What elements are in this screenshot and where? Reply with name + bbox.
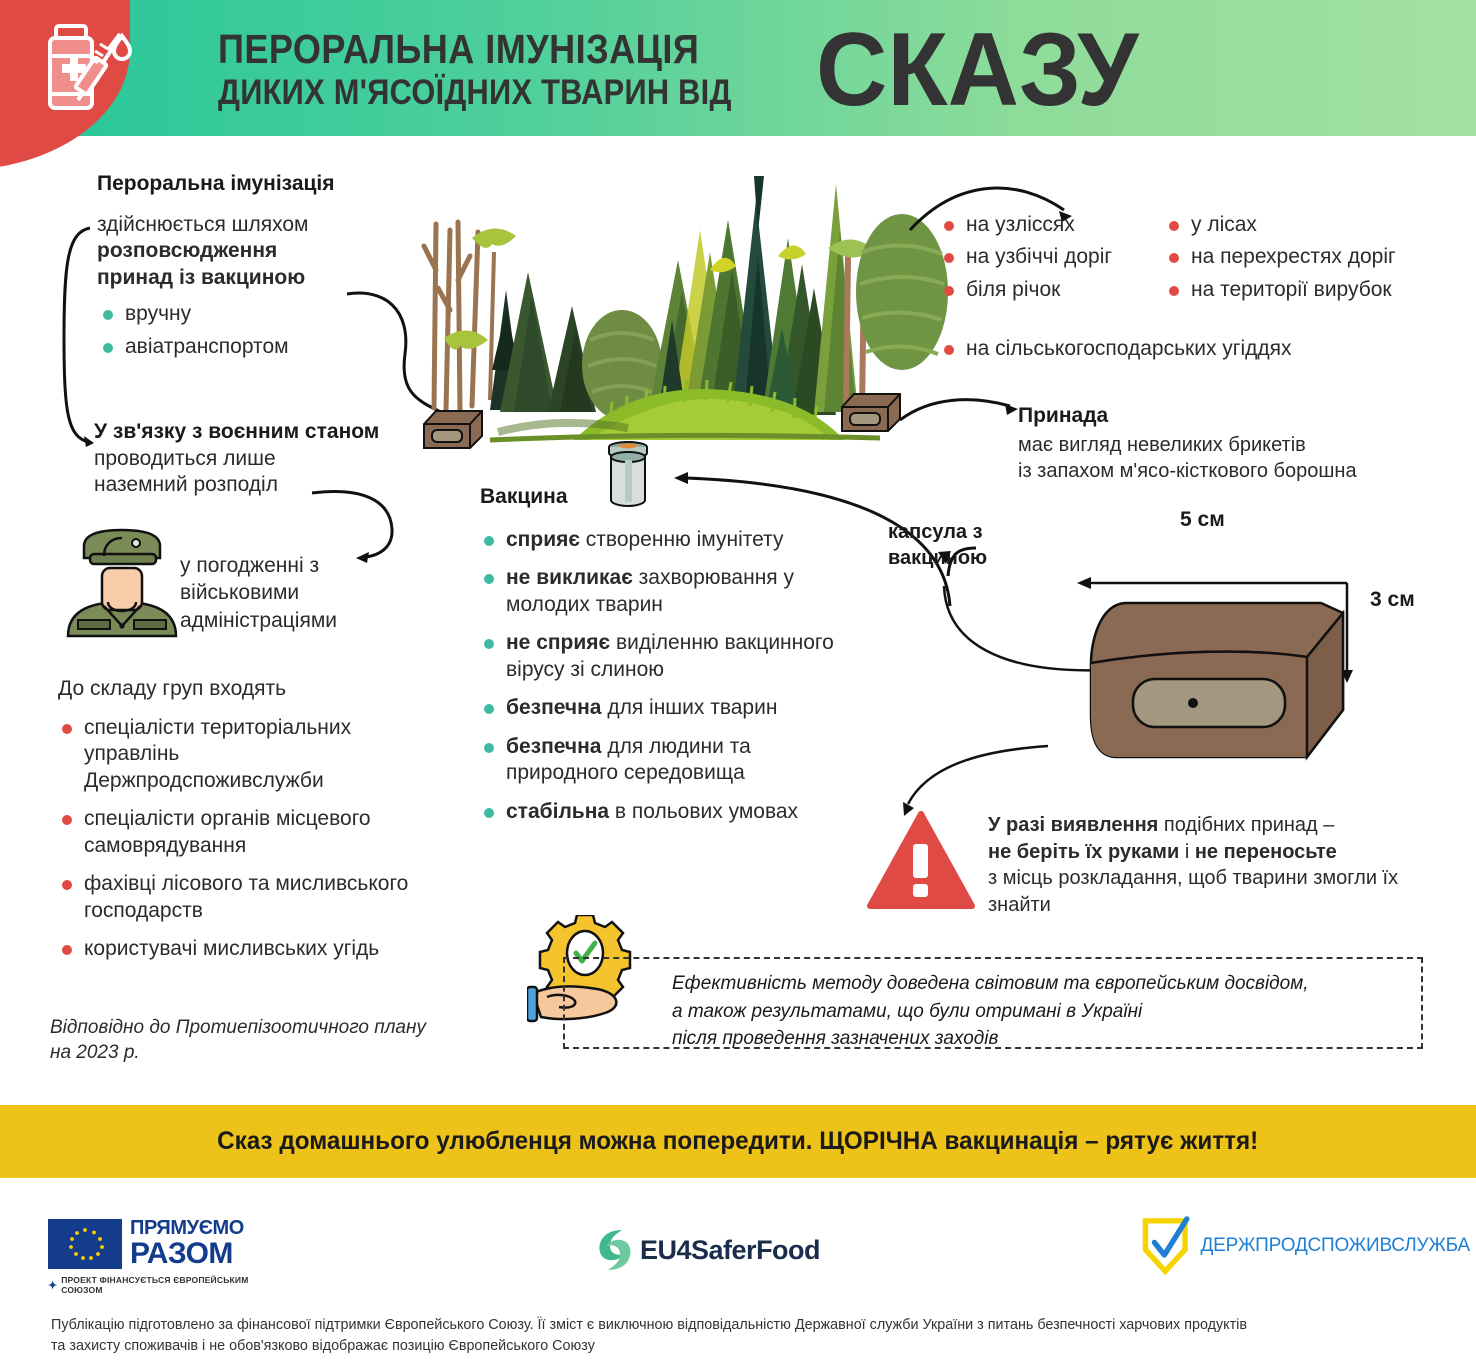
places-column-a: на узліссях на узбіччі доріг біля річок: [940, 212, 1160, 309]
list-item: на сільськогосподарських угіддях: [940, 336, 1460, 362]
warning-triangle-icon: [866, 810, 976, 910]
header-title-group: ПЕРОРАЛЬНА ІМУНІЗАЦІЯ ДИКИХ М'ЯСОЇДНИХ Т…: [218, 10, 1458, 130]
bottom-banner: Сказ домашнього улюбленця можна попереди…: [0, 1105, 1476, 1178]
arrow-to-prinada: [898, 394, 1026, 434]
list-item: не сприяє виділенню вакцинного вірусу зі…: [480, 630, 840, 683]
soldier-avatar-icon: [60, 528, 184, 640]
peroral-intro: здійснюється шляхом розповсюдження прина…: [97, 212, 397, 291]
list-item: безпечна для інших тварин: [480, 695, 840, 721]
peroral-intro-bold-1: розповсюдження: [97, 239, 277, 262]
logo-eu4saferfood: EU4SaferFood: [592, 1222, 832, 1280]
title-big-word: СКАЗУ: [816, 21, 1139, 120]
prinada-heading: Принада: [1018, 404, 1458, 428]
efficacy-line-1: Ефективність методу доведена світовим та…: [672, 970, 1412, 998]
list-item: спеціалісти органів місцевого самоврядув…: [58, 806, 418, 859]
peroral-intro-plain: здійснюється шляхом: [97, 213, 309, 236]
vaccine-item-bold: стабільна: [506, 800, 609, 823]
leaf-swirl-icon: [592, 1222, 638, 1278]
places-wide-row: на сільськогосподарських угіддях: [940, 336, 1460, 368]
list-item: спеціалісти територіальних управлінь Дер…: [58, 715, 418, 794]
warning-bold-3: не переносьте: [1195, 841, 1337, 863]
list-item: не викликає захворювання у молодих твари…: [480, 565, 840, 618]
efficacy-line-2: а також результатами, що були отримані в…: [672, 998, 1412, 1026]
banner-text: Сказ домашнього улюбленця можна попереди…: [217, 1127, 1258, 1156]
logo-eu-together: ПРЯМУЄМО РАЗОМ ✦ ПРОЕКТ ФІНАНСУЄТЬСЯ ЄВР…: [48, 1218, 278, 1290]
header-banner: ПЕРОРАЛЬНА ІМУНІЗАЦІЯ ДИКИХ М'ЯСОЇДНИХ Т…: [0, 0, 1476, 136]
list-item: на узліссях: [940, 212, 1160, 238]
warning-plain-1: подібних принад –: [1158, 814, 1334, 836]
vaccine-item-bold: не викликає: [506, 566, 633, 589]
bait-briquette-icon: [420, 406, 486, 452]
vaccine-heading: Вакцина: [480, 485, 840, 509]
list-item: фахівці лісового та мисливського господа…: [58, 871, 418, 924]
vaccine-section: Вакцина сприяє створенню імунітету не ви…: [480, 485, 840, 837]
prinada-section: Принада має вигляд невеликих брикетів із…: [1018, 404, 1458, 485]
efficacy-line-3: після проведення зазначених заходів: [672, 1025, 1412, 1053]
disclaimer-line-2: та захисту споживачів і не обов'язково в…: [51, 1336, 1437, 1357]
efficacy-text: Ефективність методу доведена світовим та…: [672, 970, 1412, 1053]
places-column-b: у лісах на перехрестях доріг на територі…: [1165, 212, 1460, 309]
list-item: стабільна в польових умовах: [480, 799, 840, 825]
vaccine-item-bold: сприяє: [506, 528, 580, 551]
list-item: на узбіччі доріг: [940, 244, 1160, 270]
list-item: на перехрестях доріг: [1165, 244, 1460, 270]
title-line-1: ПЕРОРАЛЬНА ІМУНІЗАЦІЯ: [218, 28, 732, 71]
bait-briquette-icon: [838, 389, 904, 435]
logo-eu-caption: ПРОЕКТ ФІНАНСУЄТЬСЯ ЄВРОПЕЙСЬКИМ СОЮЗОМ: [61, 1275, 278, 1295]
vaccine-item-rest: для інших тварин: [601, 696, 777, 719]
list-item: користувачі мисливських угідь: [58, 936, 418, 962]
eu-flag-icon: [48, 1219, 122, 1269]
plan-note: Відповідно до Протиепізоотичного плану н…: [50, 1015, 450, 1065]
martial-heading: У зв'язку з воєнним станом: [94, 420, 414, 444]
vaccine-item-rest: в польових умовах: [609, 800, 798, 823]
vaccine-item-bold: не сприяє: [506, 631, 610, 654]
vaccine-list: сприяє створенню імунітету не викликає з…: [480, 527, 840, 825]
list-item: у лісах: [1165, 212, 1460, 238]
logo-derzh-text: ДЕРЖПРОДСПОЖИВСЛУЖБА: [1200, 1235, 1470, 1257]
warning-bold-2: не беріть їх руками: [988, 841, 1179, 863]
warning-bold-1: У разі виявлення: [988, 814, 1158, 836]
vaccine-item-bold: безпечна: [506, 735, 601, 758]
martial-line-1: проводиться лише: [94, 446, 414, 472]
dimension-width-label: 5 см: [1180, 508, 1225, 532]
star-icon: ✦: [48, 1279, 57, 1292]
vaccine-item-bold: безпечна: [506, 696, 601, 719]
groups-list: спеціалісти територіальних управлінь Дер…: [58, 715, 418, 963]
list-item: біля річок: [940, 277, 1160, 303]
list-item: безпечна для людини та природного середо…: [480, 734, 840, 787]
warning-text: У разі виявлення подібних принад – не бе…: [988, 812, 1458, 918]
list-item: сприяє створенню імунітету: [480, 527, 840, 553]
footer-disclaimer: Публікацію підготовлено за фінансової пі…: [51, 1315, 1437, 1357]
title-line-2: ДИКИХ М'ЯСОЇДНИХ ТВАРИН ВІД: [218, 73, 732, 112]
bait-briquette-large: [1055, 545, 1455, 775]
peroral-heading: Пероральна імунізація: [97, 172, 397, 196]
logo-eu-line-2: РАЗОМ: [130, 1239, 244, 1269]
vaccine-item-rest: створенню імунітету: [580, 528, 784, 551]
list-item: на території вирубок: [1165, 277, 1460, 303]
prinada-line-1: має вигляд невеликих брикетів: [1018, 432, 1458, 458]
logo-eu-line-1: ПРЯМУЄМО: [130, 1218, 244, 1238]
logo-safer-text: EU4SaferFood: [640, 1235, 820, 1266]
warning-plain-3: з місць розкладання, щоб тварини змогли …: [988, 867, 1398, 916]
groups-section: До складу груп входять спеціалісти терит…: [58, 677, 418, 975]
logo-derzhprodspozhyvsluzhba: ДЕРЖПРОДСПОЖИВСЛУЖБА: [1140, 1214, 1470, 1280]
brace-arrow: [60, 222, 98, 454]
infographic-page: ПЕРОРАЛЬНА ІМУНІЗАЦІЯ ДИКИХ М'ЯСОЇДНИХ Т…: [0, 0, 1476, 1369]
warning-plain-2: і: [1179, 841, 1195, 863]
prinada-line-2: із запахом м'ясо-кісткового борошна: [1018, 458, 1458, 484]
vaccine-bottle-syringe-icon: [38, 20, 138, 116]
agreement-text: у погодженні з військовими адміністрація…: [180, 552, 390, 634]
peroral-intro-bold-2: принад із вакциною: [97, 266, 305, 289]
shield-check-icon: [1140, 1214, 1190, 1278]
disclaimer-line-1: Публікацію підготовлено за фінансової пі…: [51, 1315, 1437, 1336]
groups-lead: До складу груп входять: [58, 677, 418, 701]
